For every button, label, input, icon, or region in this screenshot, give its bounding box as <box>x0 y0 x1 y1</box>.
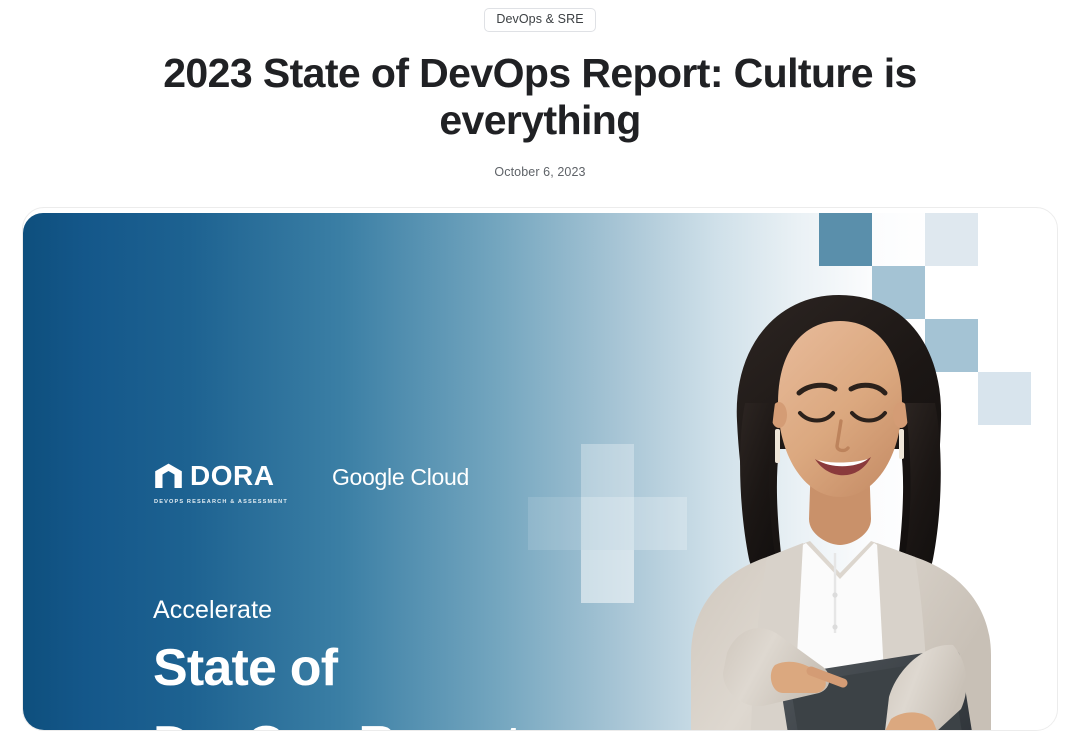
cross-square-top <box>581 444 634 497</box>
page-title: 2023 State of DevOps Report: Culture is … <box>160 50 920 144</box>
dora-wordmark: DORA <box>190 462 274 490</box>
hero-headline-line-2: DevOps Report <box>153 712 521 731</box>
article-header: DevOps & SRE 2023 State of DevOps Report… <box>0 0 1080 180</box>
google-cloud-wordmark: Google Cloud <box>332 463 469 491</box>
hero-headline-line-1: State of <box>153 635 521 702</box>
dora-subtitle: DEVOPS RESEARCH & ASSESSMENT <box>154 498 288 506</box>
cross-square-center <box>581 497 634 550</box>
hero-image: DORA DEVOPS RESEARCH & ASSESSMENT Google… <box>23 213 1057 731</box>
hero-kicker: Accelerate <box>153 595 521 625</box>
category-tag-devops-sre[interactable]: DevOps & SRE <box>484 8 595 32</box>
publish-date: October 6, 2023 <box>0 164 1080 180</box>
dora-house-mark-icon <box>153 462 184 490</box>
dora-logo: DORA DEVOPS RESEARCH & ASSESSMENT <box>153 462 288 506</box>
hero-headline-block: Accelerate State of DevOps Report 2023 <box>153 595 521 731</box>
cross-square-left <box>528 497 581 550</box>
person-photo <box>675 253 1005 731</box>
article-page: DevOps & SRE 2023 State of DevOps Report… <box>0 0 1080 740</box>
dora-logo-main: DORA <box>153 462 274 490</box>
brand-lockup: DORA DEVOPS RESEARCH & ASSESSMENT Google… <box>153 462 469 506</box>
cross-square-bottom <box>581 550 634 603</box>
hero-card[interactable]: DORA DEVOPS RESEARCH & ASSESSMENT Google… <box>22 207 1058 731</box>
tag-row: DevOps & SRE <box>0 8 1080 32</box>
